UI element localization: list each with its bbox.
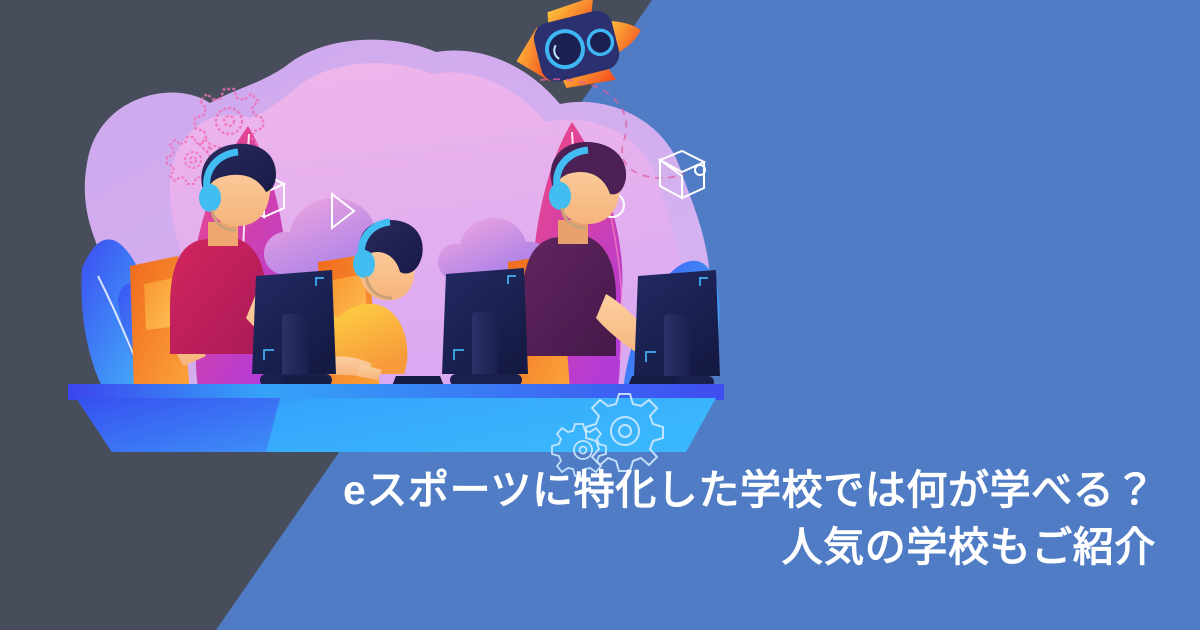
torso	[170, 236, 266, 354]
desk-lip	[68, 384, 724, 400]
monitor-middle	[442, 268, 528, 386]
monitor-stand	[472, 312, 498, 380]
headset-earcup	[549, 182, 571, 210]
banner-canvas: eスポーツに特化した学校では何が学べる？ 人気の学校もご紹介	[0, 0, 1200, 630]
torso	[522, 234, 616, 356]
headset-earcup	[353, 250, 375, 278]
monitor-stand	[664, 314, 690, 382]
monitor-left	[252, 270, 336, 386]
headline-line-2: 人気の学校もご紹介	[0, 519, 1156, 576]
esports-illustration	[60, 8, 740, 458]
desk-left-panel	[76, 398, 280, 452]
monitor-stand	[282, 314, 308, 380]
headline-line-1: eスポーツに特化した学校では何が学べる？	[0, 462, 1156, 519]
headset-earcup	[199, 184, 221, 212]
monitor-right	[634, 270, 720, 388]
